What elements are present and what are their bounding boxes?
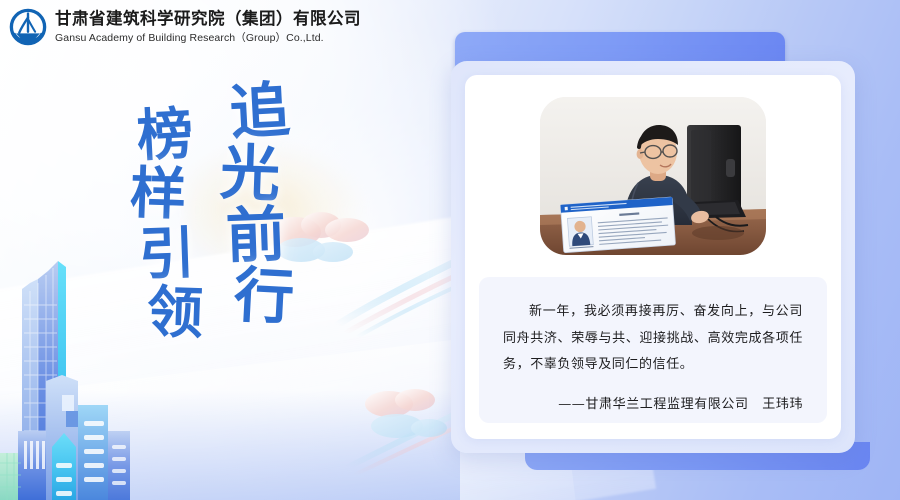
headline-right-column: 追 光 前 行	[222, 82, 282, 329]
headline-char: 样	[129, 164, 187, 225]
testimonial-card-inner: 新一年，我必须再接再厉、奋发向上，与公司同舟共济、荣辱与共、迎接挑战、高效完成各…	[465, 75, 841, 439]
headline-char: 行	[232, 266, 295, 331]
headline-char: 引	[138, 224, 196, 285]
poster-canvas: 甘肃省建筑科学研究院（集团）有限公司 Gansu Academy of Buil…	[0, 0, 900, 500]
brand-name-en: Gansu Academy of Building Research（Group…	[55, 33, 361, 44]
headline-left-column: 榜 样 引 领	[133, 106, 189, 343]
headline-char: 前	[225, 205, 287, 269]
quote-text: 新一年，我必须再接再厉、奋发向上，与公司同舟共济、荣辱与共、迎接挑战、高效完成各…	[503, 299, 803, 379]
headline-char: 领	[146, 283, 204, 344]
photo-illustration	[540, 97, 766, 255]
headline-char: 榜	[135, 105, 194, 167]
city-skyline-icon	[0, 235, 135, 500]
headline-char: 追	[228, 80, 291, 145]
quote-attribution: ——甘肃华兰工程监理有限公司 王玮玮	[503, 393, 803, 412]
testimonial-card: 新一年，我必须再接再厉、奋发向上，与公司同舟共济、荣辱与共、迎接挑战、高效完成各…	[451, 61, 855, 453]
brand-logo: 甘肃省建筑科学研究院（集团）有限公司 Gansu Academy of Buil…	[9, 8, 361, 46]
gansu-academy-logo-icon	[9, 8, 47, 46]
person-at-desk-photo	[540, 97, 766, 255]
headline-char: 光	[219, 143, 281, 207]
quote-block: 新一年，我必须再接再厉、奋发向上，与公司同舟共济、荣辱与共、迎接挑战、高效完成各…	[479, 277, 827, 423]
brand-name-cn: 甘肃省建筑科学研究院（集团）有限公司	[55, 11, 361, 28]
